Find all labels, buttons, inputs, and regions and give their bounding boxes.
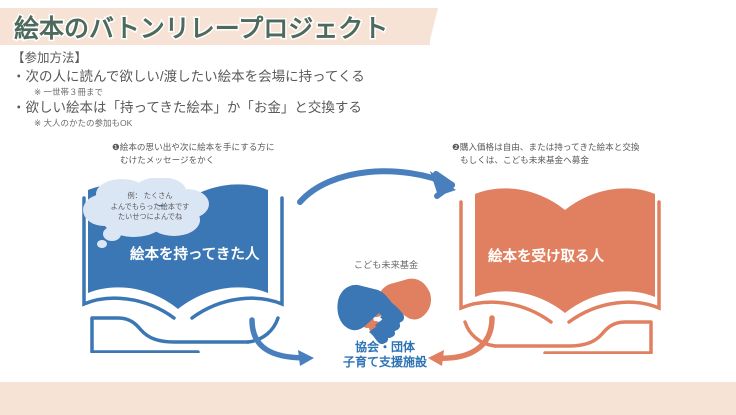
org-line-2: 子育て支援施設 [343, 355, 427, 369]
howto-note-1: ※ 一世帯３冊まで [34, 86, 442, 99]
banner-stripe-3 [392, 8, 420, 45]
arrow-head-blue-bottom [298, 350, 314, 366]
slide-canvas: 絵本のバトンリレープロジェクト 【参加方法】 ・次の人に読んで欲しい/渡したい絵… [0, 0, 736, 415]
handshake-icon [334, 275, 436, 347]
step-caption-2: ❷購入価格は自由、または持ってきた絵本と交換 もしくは、こども未来基金へ募金 [452, 141, 640, 166]
step-caption-1: ❶絵本の思い出や次に絵本を手にする方に むけたメッセージをかく [112, 141, 275, 166]
howto-block: 【参加方法】 ・次の人に読んで欲しい/渡したい絵本を会場に持ってくる ※ 一世帯… [12, 50, 442, 130]
step-2-line2: もしくは、こども未来基金へ募金 [460, 154, 640, 167]
fund-label: こども未来基金 [336, 257, 436, 271]
speech-cloud-text: 例： たくさん よんでもらった絵本です たいせつによんでね [86, 191, 214, 223]
banner-stripe-4 [413, 8, 441, 45]
step-1-line1: 絵本の思い出や次に絵本を手にする方に [120, 142, 275, 152]
arrow-giver-to-receiver [300, 171, 452, 202]
org-line-1: 協会・団体 [355, 340, 415, 354]
org-label: 協会・団体 子育て支援施設 [320, 340, 450, 370]
step-2-line1: 購入価格は自由、または持ってきた絵本と交換 [460, 142, 640, 152]
speech-line-3: たいせつによんでね [86, 212, 214, 223]
step-2-marker: ❷ [452, 142, 460, 152]
receiver-label: 絵本を受け取る人 [488, 245, 604, 266]
footer-bar [0, 382, 736, 415]
howto-note-2: ※ 大人のかたの参加もOK [34, 117, 442, 130]
step-1-line2: むけたメッセージをかく [120, 154, 275, 167]
step-1-marker: ❶ [112, 142, 120, 152]
handshake-shape [334, 275, 436, 347]
howto-heading: 【参加方法】 [12, 50, 442, 67]
howto-item-1: ・次の人に読んで欲しい/渡したい絵本を会場に持ってくる [12, 68, 442, 86]
speech-line-2: よんでもらった絵本です [86, 202, 214, 213]
speech-line-1: 例： たくさん [86, 191, 214, 202]
page-title: 絵本のバトンリレープロジェクト [14, 9, 388, 45]
howto-item-2: ・欲しい絵本は「持ってきた絵本」か「お金」と交換する [12, 99, 442, 117]
